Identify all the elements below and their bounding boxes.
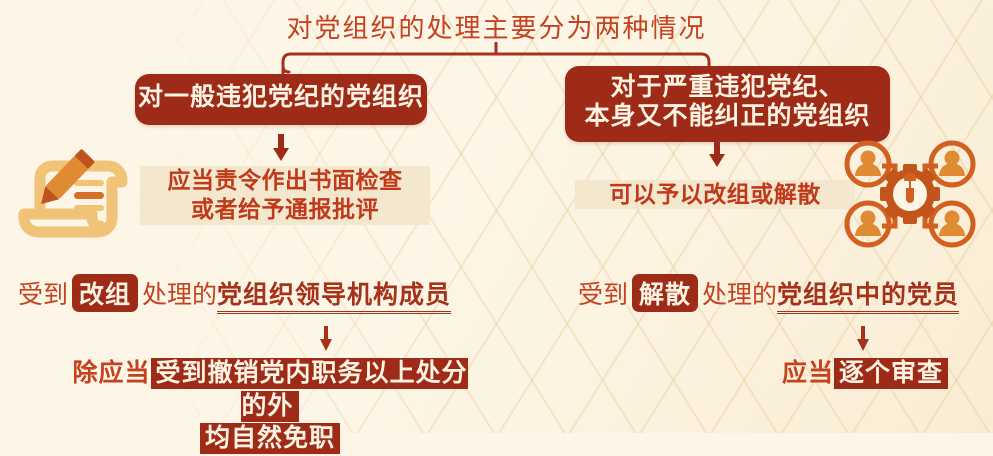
left-outcome-text: 除应当受到撤销党内职务以上处分的外 均自然免职 [60, 358, 480, 456]
org-restructure-gear-icon [840, 138, 980, 250]
left-outcome-line1: 受到撤销党内职务以上处分的外 [151, 358, 468, 422]
scroll-pencil-icon [16, 142, 134, 240]
left-consequence-emphasis: 党组织领导机构成员 [217, 282, 451, 314]
right-consequence-row: 受到解散处理的党组织中的党员 [578, 274, 959, 312]
right-consequence-badge: 解散 [632, 274, 698, 312]
page-title: 对党组织的处理主要分为两种情况 [0, 8, 993, 45]
right-branch-box: 对于严重违犯党纪、 本身又不能纠正的党组织 [565, 66, 890, 142]
left-measure-line1: 应当责令作出书面检查 [162, 167, 409, 194]
right-branch-box-label-line1: 对于严重违犯党纪、 [610, 74, 844, 101]
left-consequence-row: 受到改组处理的党组织领导机构成员 [18, 274, 451, 312]
arrow-left-box-to-measure [270, 134, 292, 162]
left-branch-box: 对一般违犯党纪的党组织 [135, 74, 427, 125]
arrow-right-box-to-measure [706, 140, 728, 168]
left-measure-text: 应当责令作出书面检查 或者给予通报批评 [140, 166, 430, 225]
infographic-canvas: 对党组织的处理主要分为两种情况 对一般违犯党纪的党组织 对于严重违犯党纪、 本身… [0, 0, 993, 433]
arrow-left-consequence-to-outcome [318, 326, 334, 352]
left-outcome-line2: 均自然免职 [200, 423, 340, 454]
right-outcome-line1: 逐个审查 [834, 358, 948, 389]
right-measure-line1: 可以予以改组或解散 [603, 181, 827, 208]
left-outcome-prefix: 除应当 [72, 360, 150, 387]
left-consequence-middle: 处理的 [142, 282, 217, 309]
left-measure-line2: 或者给予通报批评 [185, 196, 385, 223]
left-consequence-badge: 改组 [72, 274, 138, 312]
right-outcome-prefix: 应当 [782, 360, 834, 387]
right-outcome-text: 应当逐个审查 [745, 358, 985, 391]
right-consequence-middle: 处理的 [702, 282, 777, 309]
right-consequence-prefix: 受到 [578, 282, 628, 309]
right-measure-text: 可以予以改组或解散 [575, 180, 855, 209]
left-branch-box-label: 对一般违犯党纪的党组织 [138, 84, 424, 111]
right-branch-box-label-line2: 本身又不能纠正的党组织 [565, 103, 890, 132]
right-consequence-emphasis: 党组织中的党员 [777, 282, 959, 314]
left-consequence-prefix: 受到 [18, 282, 68, 309]
arrow-right-consequence-to-outcome [855, 326, 871, 352]
